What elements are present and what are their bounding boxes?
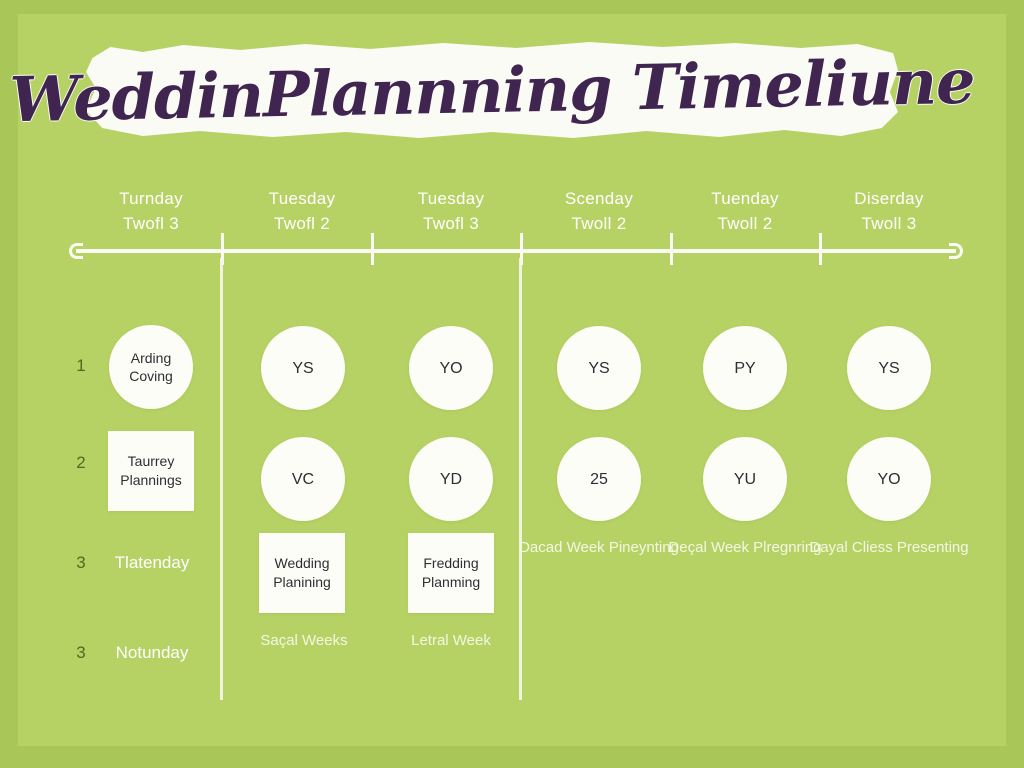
axis-line (76, 249, 956, 253)
column-header-1: Turnday Twofl 3 (76, 186, 226, 236)
column-header-3: Tuesday Twofl 3 (376, 186, 526, 236)
node-col6-row2[interactable]: YO (847, 437, 931, 521)
row-number-1: 1 (68, 356, 94, 376)
column-header-2-day: Tuesday (269, 189, 336, 208)
column-header-2-sub: Twofl 2 (227, 211, 377, 236)
column-header-4: Scenday Twoll 2 (524, 186, 674, 236)
caption-col2: Saçal Weeks (219, 630, 389, 652)
column-header-4-sub: Twoll 2 (524, 211, 674, 236)
column-header-5: Tuenday Twoll 2 (670, 186, 820, 236)
timeline-axis (68, 243, 964, 259)
column-header-1-day: Turnday (119, 189, 183, 208)
timeline-grid: Turnday Twofl 3 Tuesday Twofl 2 Tuesday … (0, 0, 1024, 768)
row-label-3: Tlatenday (104, 553, 200, 573)
node-col5-row2[interactable]: YU (703, 437, 787, 521)
node-col1-row2[interactable]: Taurrey Plannings (108, 431, 194, 511)
node-col2-row2[interactable]: VC (261, 437, 345, 521)
column-header-4-day: Scenday (565, 189, 633, 208)
node-col4-row1[interactable]: YS (557, 326, 641, 410)
caption-col3: Letral Week (366, 630, 536, 652)
arrow-left-icon (69, 243, 83, 259)
node-col5-row1[interactable]: PY (703, 326, 787, 410)
row-number-3: 3 (68, 553, 94, 573)
axis-tick-5 (819, 233, 822, 265)
caption-col6: Dayal Cliess Presenting (804, 537, 974, 559)
column-header-6-sub: Twoll 3 (814, 211, 964, 236)
column-header-3-sub: Twofl 3 (376, 211, 526, 236)
column-header-6-day: Diserday (854, 189, 923, 208)
column-header-5-sub: Twoll 2 (670, 211, 820, 236)
axis-tick-2 (371, 233, 374, 265)
node-col3-row1[interactable]: YO (409, 326, 493, 410)
node-col6-row1[interactable]: YS (847, 326, 931, 410)
axis-tick-4 (670, 233, 673, 265)
column-header-5-day: Tuenday (711, 189, 779, 208)
row-number-2: 2 (68, 453, 94, 473)
node-col3-row3[interactable]: Fredding Planming (408, 533, 494, 613)
node-col3-row2[interactable]: YD (409, 437, 493, 521)
column-header-2: Tuesday Twofl 2 (227, 186, 377, 236)
row-label-4: Notunday (104, 643, 200, 663)
row-number-4: 3 (68, 643, 94, 663)
timeline-canvas: WeddinPlannning Timeliune Turnday Twofl … (0, 0, 1024, 768)
column-header-3-day: Tuesday (418, 189, 485, 208)
node-col4-row2[interactable]: 25 (557, 437, 641, 521)
caption-col4: Dacad Week Pineynting (514, 537, 684, 559)
node-col1-row1[interactable]: Arding Coving (109, 325, 193, 409)
node-col2-row3[interactable]: Wedding Planining (259, 533, 345, 613)
column-header-6: Diserday Twoll 3 (814, 186, 964, 236)
node-col2-row1[interactable]: YS (261, 326, 345, 410)
arrow-right-icon (949, 243, 963, 259)
column-header-1-sub: Twofl 3 (76, 211, 226, 236)
